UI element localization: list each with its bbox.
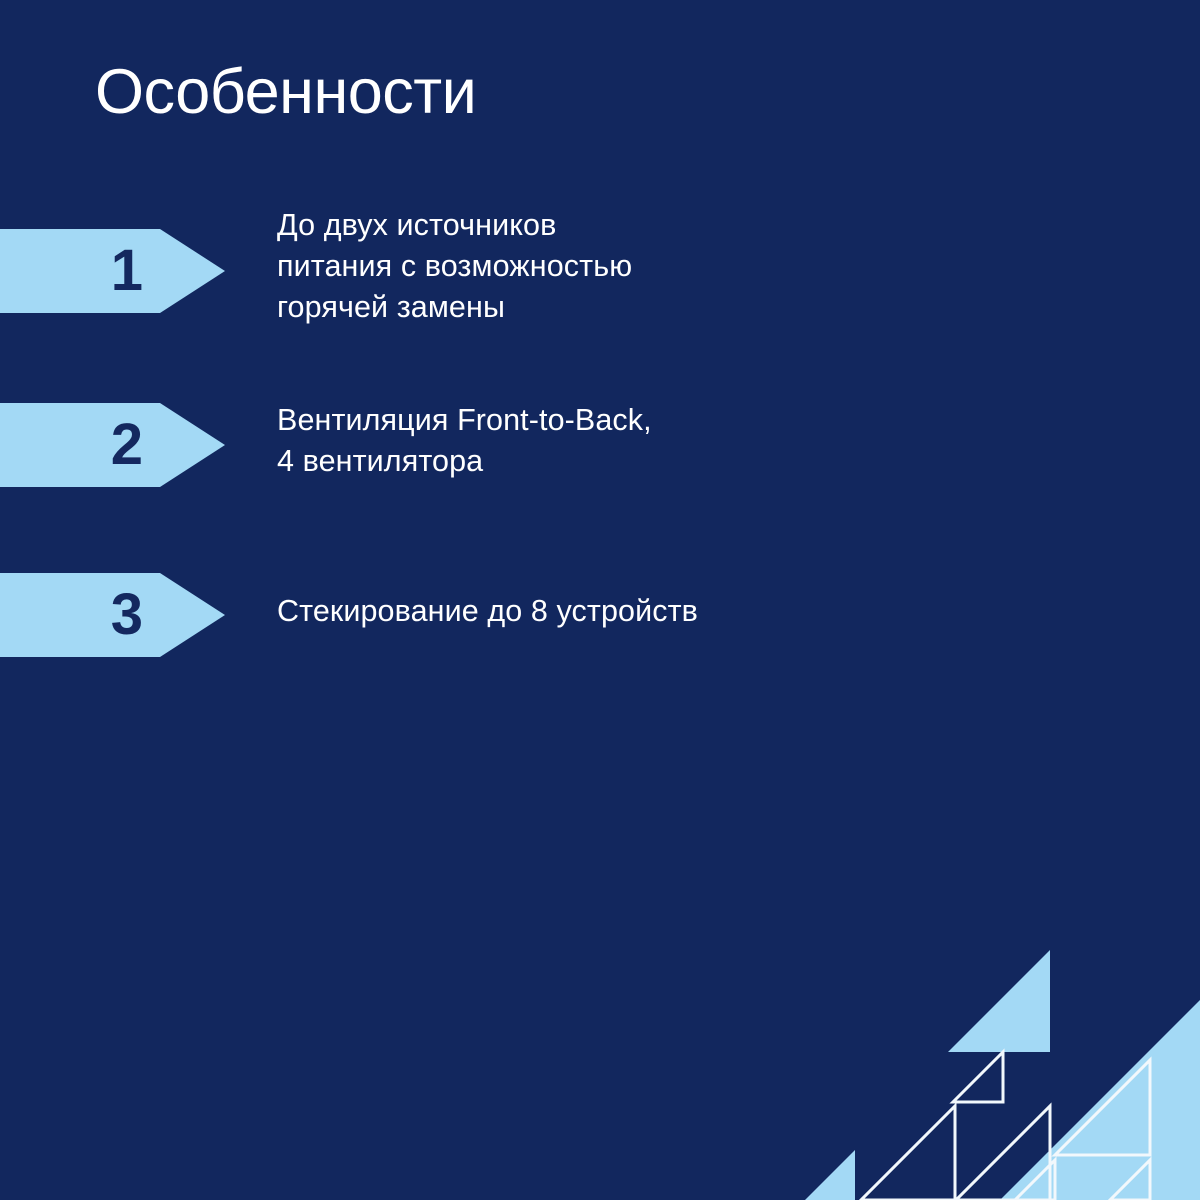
outlined-triangle-6: [1015, 1160, 1055, 1200]
outlined-triangle-3: [861, 1106, 955, 1200]
feature-description: До двух источников питания с возможность…: [277, 205, 897, 328]
feature-description: Стекирование до 8 устройств: [277, 591, 897, 632]
filled-triangle-upper: [948, 950, 1050, 1052]
feature-number-badge: 2: [0, 403, 225, 487]
feature-number-label: 3: [0, 573, 143, 657]
outlined-triangle-5: [1110, 1160, 1150, 1200]
page-title: Особенности: [95, 56, 476, 128]
large-diagonal-wedge: [1000, 1000, 1200, 1200]
corner-triangle-pattern: [780, 930, 1200, 1200]
feature-number-badge: 3: [0, 573, 225, 657]
feature-number-badge: 1: [0, 229, 225, 313]
outlined-triangle-2: [956, 1106, 1050, 1200]
outlined-triangle-1: [953, 1052, 1003, 1102]
slide-canvas: Особенности 1 До двух источников питания…: [0, 0, 1200, 1200]
feature-number-label: 2: [0, 403, 143, 487]
feature-number-label: 1: [0, 229, 143, 313]
feature-description: Вентиляция Front-to-Back, 4 вентилятора: [277, 400, 897, 482]
filled-triangle-small: [805, 1150, 855, 1200]
outlined-triangle-4: [1055, 1060, 1150, 1155]
